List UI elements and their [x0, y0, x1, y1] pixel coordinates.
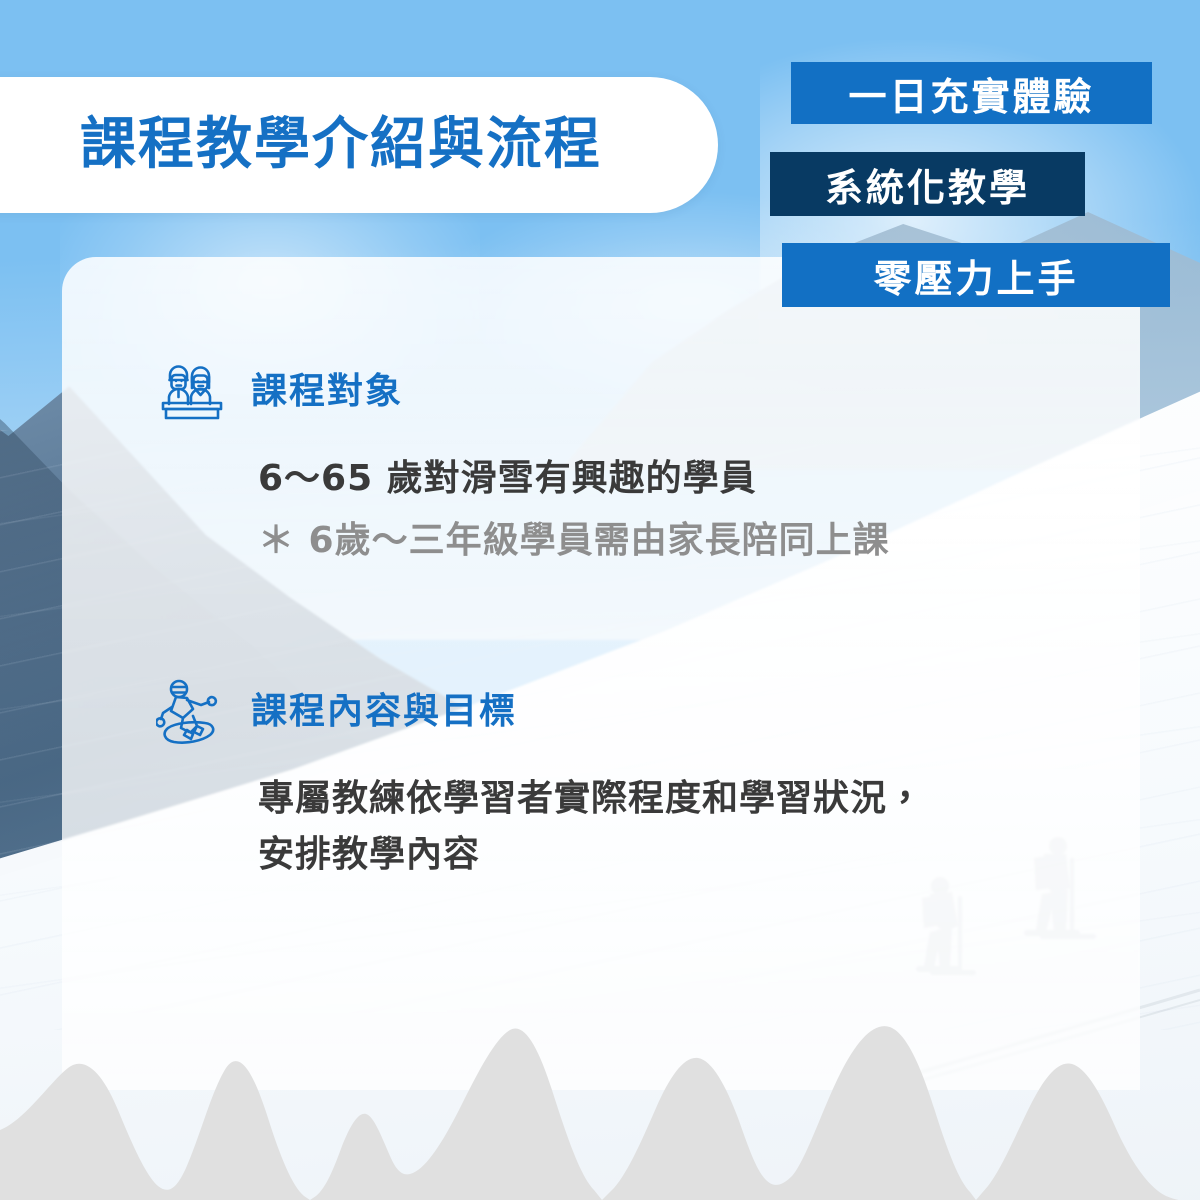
badge-stress-free-label: 零壓力上手: [873, 248, 1078, 303]
content-line-2: 安排教學內容: [258, 827, 1140, 883]
badge-systematic-teaching-label: 系統化教學: [825, 157, 1030, 212]
audience-line-1: 6〜65 歲對滑雪有興趣的學員: [258, 451, 1140, 507]
section-body-content: 專屬教練依學習者實際程度和學習狀況， 安排教學內容: [62, 747, 1140, 883]
badge-one-day-experience: 一日充實體驗: [791, 62, 1152, 124]
section-course-audience: 課程對象 6〜65 歲對滑雪有興趣的學員 ＊ 6歲〜三年級學員需由家長陪同上課: [62, 357, 1140, 569]
page-title: 課程教學介紹與流程: [80, 117, 602, 173]
badge-stress-free: 零壓力上手: [782, 243, 1170, 307]
content-card: 課程對象 6〜65 歲對滑雪有興趣的學員 ＊ 6歲〜三年級學員需由家長陪同上課: [62, 257, 1140, 1090]
page-title-pill: 課程教學介紹與流程: [0, 77, 718, 213]
snowboarder-icon: [155, 675, 229, 749]
two-people-at-counter-icon: [155, 355, 229, 429]
section-body-audience: 6〜65 歲對滑雪有興趣的學員 ＊ 6歲〜三年級學員需由家長陪同上課: [62, 427, 1140, 569]
bottom-mountain-silhouette: [0, 990, 1200, 1200]
section-course-content: 課程內容與目標 專屬教練依學習者實際程度和學習狀況， 安排教學內容: [62, 677, 1140, 883]
section-title-audience: 課程對象: [251, 374, 403, 410]
audience-line-2-note: ＊ 6歲〜三年級學員需由家長陪同上課: [258, 513, 1140, 569]
content-line-1: 專屬教練依學習者實際程度和學習狀況，: [258, 771, 1140, 827]
section-header-content: 課程內容與目標: [62, 677, 1140, 747]
badge-one-day-experience-label: 一日充實體驗: [848, 66, 1094, 121]
section-title-content: 課程內容與目標: [251, 694, 517, 730]
section-header-audience: 課程對象: [62, 357, 1140, 427]
badge-systematic-teaching: 系統化教學: [770, 152, 1085, 216]
